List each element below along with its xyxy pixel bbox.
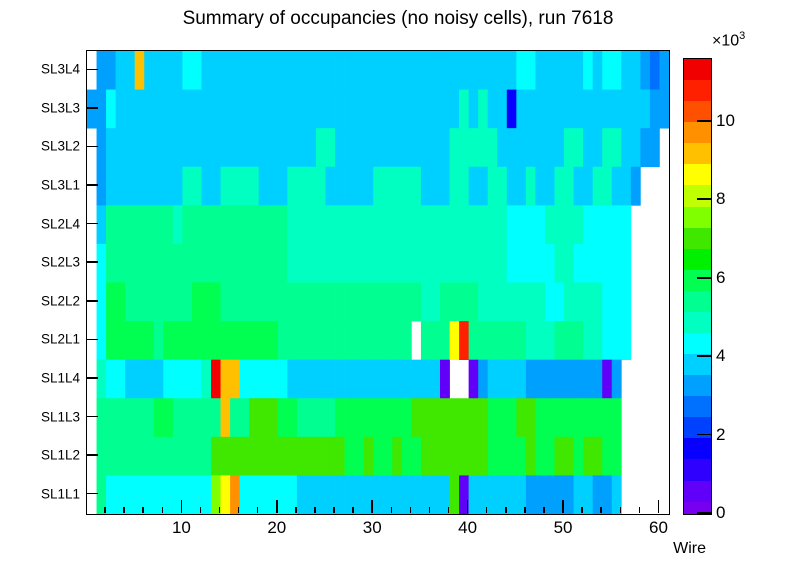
heatmap-cell <box>144 167 154 206</box>
heatmap-cell <box>402 360 412 399</box>
heatmap-cell <box>373 360 383 399</box>
palette-band <box>684 312 711 333</box>
heatmap-cell <box>201 205 211 244</box>
x-axis-label-20: 20 <box>267 518 286 538</box>
heatmap-cell <box>402 128 412 167</box>
heatmap-cell <box>602 360 612 399</box>
z-axis-tick <box>697 512 712 514</box>
heatmap-cell <box>154 51 164 90</box>
heatmap-cell <box>402 283 412 322</box>
heatmap-cell <box>182 475 192 514</box>
heatmap-cell <box>564 128 574 167</box>
heatmap-cell <box>306 360 316 399</box>
heatmap-cell <box>335 244 345 283</box>
heatmap-cell <box>516 167 526 206</box>
heatmap-cell <box>459 90 469 129</box>
heatmap-cell <box>345 398 355 437</box>
x-axis-tick <box>352 507 354 513</box>
heatmap-cell <box>392 205 402 244</box>
heatmap-cell <box>345 360 355 399</box>
heatmap-cell <box>488 205 498 244</box>
heatmap-cell <box>259 51 269 90</box>
heatmap-cell <box>335 398 345 437</box>
heatmap-cell <box>440 90 450 129</box>
heatmap-cell <box>144 90 154 129</box>
heatmap-cell <box>574 360 584 399</box>
heatmap-cell <box>430 90 440 129</box>
heatmap-cell <box>593 360 603 399</box>
heatmap-cell <box>612 51 622 90</box>
heatmap-cell <box>116 205 126 244</box>
heatmap-cell <box>268 51 278 90</box>
heatmap-cell <box>249 437 259 476</box>
heatmap-cell <box>97 205 107 244</box>
heatmap-cell <box>526 475 536 514</box>
heatmap-cell <box>192 205 202 244</box>
palette-band <box>684 396 711 417</box>
heatmap-cell <box>249 360 259 399</box>
x-axis-label-60: 60 <box>649 518 668 538</box>
heatmap-cell <box>221 51 231 90</box>
heatmap-cell <box>469 244 479 283</box>
heatmap-cell <box>144 244 154 283</box>
heatmap-cell <box>411 128 421 167</box>
heatmap-cell <box>488 283 498 322</box>
heatmap-cell <box>144 360 154 399</box>
palette-band <box>684 59 711 80</box>
heatmap-cell <box>593 283 603 322</box>
heatmap-cell <box>612 167 622 206</box>
heatmap-cell <box>574 437 584 476</box>
heatmap-cell <box>555 283 565 322</box>
heatmap-cell <box>631 167 641 206</box>
palette-band <box>684 459 711 480</box>
heatmap-cell <box>125 128 135 167</box>
heatmap-cell <box>97 437 107 476</box>
heatmap-cell <box>316 205 326 244</box>
heatmap-cell <box>373 90 383 129</box>
x-axis-tick <box>600 507 602 513</box>
heatmap-cell <box>526 167 536 206</box>
heatmap-cell <box>182 128 192 167</box>
heatmap-cell <box>326 51 336 90</box>
heatmap-cell <box>192 360 202 399</box>
heatmap-cell <box>497 51 507 90</box>
heatmap-cell <box>201 398 211 437</box>
heatmap-cell <box>459 51 469 90</box>
heatmap-cell <box>621 283 631 322</box>
heatmap-cell <box>116 398 126 437</box>
heatmap-cell <box>411 205 421 244</box>
heatmap-cell <box>106 437 116 476</box>
heatmap-cell <box>469 167 479 206</box>
heatmap-cell <box>535 398 545 437</box>
heatmap-cell <box>564 398 574 437</box>
heatmap-cell <box>106 398 116 437</box>
heatmap-cell <box>602 128 612 167</box>
palette-band <box>684 164 711 185</box>
page-title: Summary of occupancies (no noisy cells),… <box>0 8 796 30</box>
heatmap-cell <box>430 51 440 90</box>
heatmap-cell <box>535 167 545 206</box>
heatmap-cell <box>182 398 192 437</box>
heatmap-cell <box>450 244 460 283</box>
heatmap-cell <box>392 51 402 90</box>
heatmap-cell <box>268 244 278 283</box>
heatmap-cell <box>259 475 269 514</box>
heatmap-cell <box>106 128 116 167</box>
heatmap-cell <box>402 51 412 90</box>
heatmap-cell <box>144 205 154 244</box>
heatmap-cell <box>497 360 507 399</box>
heatmap-cell <box>192 167 202 206</box>
y-axis-label-sl1l3: SL1L3 <box>14 409 80 424</box>
heatmap-cell <box>421 167 431 206</box>
heatmap-cell <box>555 128 565 167</box>
heatmap-cell <box>516 90 526 129</box>
heatmap-cell <box>421 360 431 399</box>
heatmap-cell <box>240 244 250 283</box>
heatmap-cell <box>278 321 288 360</box>
heatmap-cell <box>154 360 164 399</box>
heatmap-cell <box>354 437 364 476</box>
heatmap-cell <box>564 244 574 283</box>
z-axis-tick <box>697 198 712 200</box>
heatmap-cell <box>583 360 593 399</box>
heatmap-cell <box>116 51 126 90</box>
heatmap-cell <box>430 475 440 514</box>
heatmap-cell <box>135 398 145 437</box>
heatmap-cell <box>364 167 374 206</box>
heatmap-cell <box>297 51 307 90</box>
heatmap-cell <box>612 90 622 129</box>
heatmap-cell <box>516 360 526 399</box>
heatmap-cell <box>163 475 173 514</box>
heatmap-cell <box>621 51 631 90</box>
x-axis-tick <box>505 507 507 513</box>
heatmap-cell <box>583 321 593 360</box>
heatmap-cell <box>564 283 574 322</box>
heatmap-cell <box>268 398 278 437</box>
heatmap-cell <box>421 283 431 322</box>
heatmap-cell <box>249 90 259 129</box>
heatmap-cell <box>602 321 612 360</box>
heatmap-cell <box>192 244 202 283</box>
heatmap-cell <box>555 205 565 244</box>
heatmap-cell <box>440 244 450 283</box>
heatmap-cell <box>621 167 631 206</box>
heatmap-cell <box>516 321 526 360</box>
heatmap-cell <box>287 205 297 244</box>
heatmap-cell <box>612 205 622 244</box>
x-axis-tick <box>219 507 221 513</box>
heatmap-cell <box>469 128 479 167</box>
heatmap-cell <box>574 90 584 129</box>
z-multiplier-exponent: 3 <box>739 30 745 42</box>
z-axis-multiplier: ×103 <box>712 30 745 50</box>
x-axis-tick <box>639 507 641 513</box>
x-axis-tick <box>238 507 240 513</box>
heatmap-cell <box>97 360 107 399</box>
heatmap-cell <box>469 398 479 437</box>
heatmap-cell <box>411 283 421 322</box>
y-axis-label-sl1l2: SL1L2 <box>14 448 80 463</box>
heatmap-cell <box>535 90 545 129</box>
heatmap-cell <box>488 128 498 167</box>
heatmap-cell <box>182 244 192 283</box>
heatmap-cell <box>516 283 526 322</box>
heatmap-cell <box>116 128 126 167</box>
heatmap-cell <box>154 283 164 322</box>
heatmap-cell <box>287 244 297 283</box>
z-axis-tick <box>697 434 712 436</box>
heatmap-cell <box>240 51 250 90</box>
heatmap-cell <box>459 205 469 244</box>
heatmap-cell <box>287 283 297 322</box>
heatmap-cell <box>583 51 593 90</box>
heatmap-cell <box>535 51 545 90</box>
heatmap-cell <box>278 360 288 399</box>
heatmap-cell <box>240 128 250 167</box>
heatmap-cell <box>278 475 288 514</box>
heatmap-cell <box>201 283 211 322</box>
heatmap-cell <box>602 398 612 437</box>
heatmap-cell <box>182 51 192 90</box>
heatmap-cell <box>469 475 479 514</box>
heatmap-cell <box>287 128 297 167</box>
heatmap-cell <box>144 283 154 322</box>
heatmap-cell <box>593 205 603 244</box>
heatmap-cell <box>526 51 536 90</box>
heatmap-cell <box>354 360 364 399</box>
heatmap-cell <box>211 244 221 283</box>
heatmap-cell <box>516 128 526 167</box>
heatmap-cell <box>411 360 421 399</box>
heatmap-cell <box>297 205 307 244</box>
heatmap-cell <box>555 437 565 476</box>
heatmap-cell <box>488 398 498 437</box>
heatmap-cell <box>430 360 440 399</box>
heatmap-cell <box>364 437 374 476</box>
heatmap-cell <box>201 51 211 90</box>
x-axis-tick <box>123 507 125 513</box>
heatmap-cell <box>564 321 574 360</box>
heatmap-cell <box>430 321 440 360</box>
heatmap-cell <box>268 437 278 476</box>
y-axis-label-sl3l2: SL3L2 <box>14 139 80 154</box>
heatmap-cell <box>602 205 612 244</box>
heatmap-cell <box>173 167 183 206</box>
heatmap-cell <box>125 360 135 399</box>
heatmap-cell <box>555 398 565 437</box>
heatmap-cell <box>345 244 355 283</box>
heatmap-cell <box>173 90 183 129</box>
x-axis-tick <box>410 507 412 513</box>
heatmap-cell <box>182 321 192 360</box>
heatmap-cell <box>326 128 336 167</box>
heatmap-cell <box>144 398 154 437</box>
heatmap-cell <box>163 90 173 129</box>
heatmap-cell <box>545 128 555 167</box>
heatmap-cell <box>106 283 116 322</box>
heatmap-cell <box>516 398 526 437</box>
heatmap-cell <box>450 167 460 206</box>
z-axis-label-1: 2 <box>716 425 725 445</box>
heatmap-cell <box>507 244 517 283</box>
heatmap-cell <box>555 51 565 90</box>
heatmap-cell <box>135 437 145 476</box>
heatmap-cell <box>497 398 507 437</box>
heatmap-cell <box>192 398 202 437</box>
heatmap-cell <box>173 51 183 90</box>
x-axis-tick <box>391 507 393 513</box>
x-axis-tick <box>314 507 316 513</box>
heatmap-cell <box>240 360 250 399</box>
heatmap-cell <box>249 205 259 244</box>
heatmap-cell <box>316 475 326 514</box>
heatmap-cell <box>125 90 135 129</box>
heatmap-cell <box>221 244 231 283</box>
heatmap-cell <box>125 51 135 90</box>
heatmap-cell <box>230 244 240 283</box>
heatmap-cell <box>440 51 450 90</box>
heatmap-cell <box>144 128 154 167</box>
heatmap-cell <box>535 437 545 476</box>
heatmap-cell <box>259 437 269 476</box>
heatmap-cell <box>459 437 469 476</box>
heatmap-cell <box>154 128 164 167</box>
heatmap-cell <box>201 244 211 283</box>
heatmap-cell <box>383 244 393 283</box>
heatmap-cell <box>402 90 412 129</box>
heatmap-cell <box>326 167 336 206</box>
palette-band <box>684 249 711 270</box>
heatmap-cell <box>297 321 307 360</box>
heatmap-cell <box>373 398 383 437</box>
heatmap-cell <box>316 360 326 399</box>
heatmap-cell <box>364 321 374 360</box>
heatmap-cell <box>507 90 517 129</box>
heatmap-cell <box>373 167 383 206</box>
heatmap-cell <box>450 398 460 437</box>
heatmap-cell <box>497 90 507 129</box>
heatmap-cell <box>154 167 164 206</box>
heatmap-cell <box>345 51 355 90</box>
heatmap-cell <box>163 283 173 322</box>
heatmap-cell <box>411 244 421 283</box>
heatmap-cell <box>316 128 326 167</box>
heatmap-cell <box>192 437 202 476</box>
heatmap-cell <box>163 321 173 360</box>
heatmap-cell <box>478 283 488 322</box>
heatmap-cell <box>640 51 650 90</box>
heatmap-cell <box>535 360 545 399</box>
heatmap-cell <box>287 437 297 476</box>
heatmap-cell <box>507 321 517 360</box>
heatmap-cell <box>259 321 269 360</box>
heatmap-cell <box>535 244 545 283</box>
heatmap-cell <box>201 360 211 399</box>
heatmap-cell <box>507 205 517 244</box>
heatmap-cell <box>278 283 288 322</box>
heatmap-cell <box>488 244 498 283</box>
heatmap-cell <box>173 244 183 283</box>
heatmap-cell <box>116 321 126 360</box>
heatmap-cell <box>411 398 421 437</box>
heatmap-cell <box>97 128 107 167</box>
heatmap-cell <box>402 244 412 283</box>
heatmap-cell <box>259 360 269 399</box>
heatmap-cell <box>545 244 555 283</box>
heatmap-cell <box>488 51 498 90</box>
heatmap-cell <box>297 90 307 129</box>
heatmap-cell <box>287 90 297 129</box>
heatmap-cell <box>555 167 565 206</box>
heatmap-cell <box>211 360 221 399</box>
heatmap-cell <box>259 90 269 129</box>
heatmap-cell <box>535 321 545 360</box>
z-multiplier-base: ×10 <box>712 32 739 49</box>
heatmap-cell <box>354 167 364 206</box>
heatmap-cell <box>163 205 173 244</box>
heatmap-cell <box>545 398 555 437</box>
heatmap-cell <box>335 283 345 322</box>
heatmap-cell <box>268 283 278 322</box>
z-axis-tick <box>697 355 712 357</box>
heatmap-cell <box>144 321 154 360</box>
heatmap-cell <box>354 321 364 360</box>
heatmap-cell <box>430 205 440 244</box>
heatmap-cell <box>392 167 402 206</box>
heatmap-cell <box>259 283 269 322</box>
heatmap-cell <box>306 205 316 244</box>
heatmap-cell <box>211 437 221 476</box>
heatmap-cell <box>182 360 192 399</box>
heatmap-cell <box>354 244 364 283</box>
heatmap-cell <box>335 437 345 476</box>
heatmap-cell <box>221 475 231 514</box>
heatmap-cell <box>450 437 460 476</box>
heatmap-cell <box>383 167 393 206</box>
heatmap-cell <box>326 321 336 360</box>
heatmap-cell <box>421 51 431 90</box>
heatmap-cell <box>602 283 612 322</box>
heatmap-cell <box>364 398 374 437</box>
heatmap-cell <box>201 128 211 167</box>
heatmap-cell <box>278 398 288 437</box>
heatmap-cell <box>602 244 612 283</box>
heatmap-cell <box>316 283 326 322</box>
heatmap-cell <box>392 90 402 129</box>
heatmap-cell <box>430 437 440 476</box>
heatmap-cell <box>526 244 536 283</box>
heatmap-cell <box>488 321 498 360</box>
heatmap-cell <box>497 437 507 476</box>
heatmap-cell <box>545 167 555 206</box>
heatmap-cell <box>574 321 584 360</box>
heatmap-cell <box>125 437 135 476</box>
heatmap-cell <box>154 437 164 476</box>
heatmap-cell <box>383 90 393 129</box>
heatmap-cell <box>316 437 326 476</box>
heatmap-cell <box>507 283 517 322</box>
heatmap-cell <box>173 398 183 437</box>
x-axis-tick <box>467 500 469 513</box>
heatmap-cell <box>526 321 536 360</box>
heatmap-cell <box>192 51 202 90</box>
heatmap-cell <box>440 205 450 244</box>
heatmap-cell <box>240 283 250 322</box>
